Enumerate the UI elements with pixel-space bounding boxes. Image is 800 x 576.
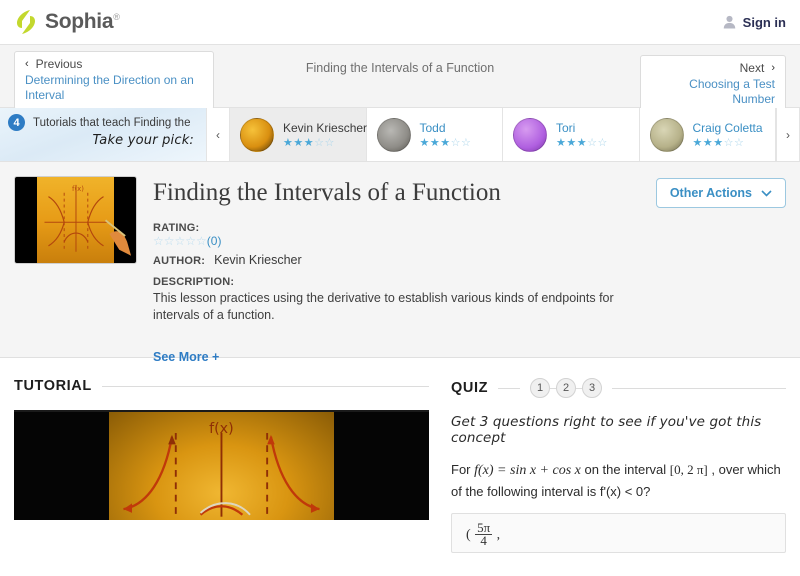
section-divider — [102, 386, 429, 387]
tutorials-carousel: 4 Tutorials that teach Finding the Take … — [0, 108, 800, 162]
lesson-details: Finding the Intervals of a Function RATI… — [153, 176, 640, 343]
answer-fraction: 5π 4 — [475, 522, 492, 547]
see-more-link[interactable]: See More + — [153, 350, 219, 364]
tutorial-card-tori[interactable]: Tori ★★★☆☆ — [503, 108, 640, 161]
author-name: Kevin Kriescher — [214, 253, 302, 267]
question-interval: [0, 2 π] — [670, 462, 708, 477]
carousel-cards: Kevin Kriescher ★★★☆☆ Todd ★★★☆☆ Tori ★★… — [230, 108, 776, 161]
carousel-intro-text: Tutorials that teach Finding the — [33, 117, 190, 129]
quiz-divider-right — [612, 388, 786, 389]
tutorial-card-rating: ★★★☆☆ — [283, 136, 356, 150]
brand-tm: ® — [113, 12, 119, 22]
sign-in-label: Sign in — [743, 15, 786, 30]
tutorial-card-rating: ★★★☆☆ — [556, 136, 608, 150]
brand-name: Sophia® — [45, 10, 120, 34]
next-label: Next — [740, 61, 765, 76]
quiz-step-2[interactable]: 2 — [556, 378, 576, 398]
avatar-kevin-kriescher — [240, 118, 274, 152]
carousel-next-button[interactable]: › — [776, 108, 800, 161]
tutorial-card-todd[interactable]: Todd ★★★☆☆ — [367, 108, 504, 161]
lower-content: TUTORIAL f(x) — [0, 358, 800, 553]
next-lesson-link[interactable]: Choosing a Test Number — [651, 77, 775, 107]
quiz-steps: 1 2 3 — [530, 378, 602, 398]
tutorial-card-rating: ★★★☆☆ — [420, 136, 472, 150]
carousel-intro: 4 Tutorials that teach Finding the Take … — [0, 108, 206, 161]
video-function-label: f(x) — [209, 421, 234, 437]
tutorial-card-name[interactable]: Todd — [420, 120, 472, 136]
rating-block: RATING: ☆☆☆☆☆ (0) — [153, 222, 640, 248]
chevron-left-icon: ‹ — [25, 59, 29, 70]
tutorial-card-name[interactable]: Tori — [556, 120, 608, 136]
question-function: f(x) = sin x + cos x — [474, 463, 581, 478]
person-icon — [723, 15, 736, 29]
sophia-logo-icon — [14, 9, 38, 35]
quiz-column: QUIZ 1 2 3 Get 3 questions right to see … — [451, 378, 786, 553]
quiz-step-3[interactable]: 3 — [582, 378, 602, 398]
next-lesson-card[interactable]: Next › Choosing a Test Number — [640, 55, 786, 114]
author-block: AUTHOR: Kevin Kriescher — [153, 253, 640, 267]
rating-count: (0) — [207, 234, 222, 248]
tutorial-heading: TUTORIAL — [14, 378, 92, 394]
quiz-section-header: QUIZ 1 2 3 — [451, 378, 786, 398]
quiz-question: For f(x) = sin x + cos x on the interval… — [451, 459, 786, 502]
previous-label: Previous — [36, 57, 83, 72]
thumbnail-graph-icon: f(x) — [15, 177, 136, 264]
question-pre: For — [451, 462, 474, 477]
carousel-hand-text: Take your pick: — [8, 133, 198, 148]
lesson-nav-bar: Finding the Intervals of a Function ‹ Pr… — [0, 44, 800, 108]
previous-lesson-link[interactable]: Determining the Direction on an Interval — [25, 73, 203, 103]
fraction-denominator: 4 — [475, 535, 492, 547]
tutorial-count-badge: 4 — [8, 114, 25, 131]
rating-stars[interactable]: ☆☆☆☆☆ — [153, 234, 207, 248]
answer-open-paren: ( — [466, 528, 471, 543]
tutorial-card-rating: ★★★☆☆ — [693, 136, 763, 150]
answer-comma: , — [497, 528, 501, 543]
description-block: DESCRIPTION: This lesson practices using… — [153, 276, 640, 324]
avatar-tori — [513, 118, 547, 152]
lesson-thumbnail[interactable]: f(x) — [14, 176, 137, 264]
sign-in-button[interactable]: Sign in — [723, 15, 786, 30]
tutorial-card-name: Kevin Kriescher — [283, 120, 356, 136]
avatar-todd — [377, 118, 411, 152]
question-mid: on the interval — [581, 462, 670, 477]
page-title: Finding the Intervals of a Function — [153, 178, 640, 208]
svg-text:f(x): f(x) — [72, 185, 84, 193]
avatar-craig-coletta — [650, 118, 684, 152]
tutorial-card-name[interactable]: Craig Coletta — [693, 120, 763, 136]
tutorial-column: TUTORIAL f(x) — [14, 378, 429, 553]
chevron-down-icon — [761, 186, 772, 200]
quiz-divider-left — [498, 388, 520, 389]
previous-kicker: ‹ Previous — [25, 57, 203, 72]
top-bar: Sophia® Sign in — [0, 0, 800, 44]
rating-label: RATING: — [153, 222, 640, 234]
video-graph-icon: f(x) — [14, 412, 429, 517]
quiz-answer-option[interactable]: ( 5π 4 , — [451, 513, 786, 553]
chevron-right-icon: › — [771, 63, 775, 74]
other-actions-button[interactable]: Other Actions — [656, 178, 786, 208]
tutorial-section-header: TUTORIAL — [14, 378, 429, 394]
brand-logo[interactable]: Sophia® — [14, 9, 120, 35]
lesson-info-panel: f(x) Finding the Intervals of a Function… — [0, 162, 800, 358]
author-label: AUTHOR: — [153, 255, 205, 267]
next-kicker: Next › — [651, 61, 775, 76]
other-actions-label: Other Actions — [670, 186, 752, 200]
tutorial-video-player[interactable]: f(x) — [14, 410, 429, 520]
quiz-hand-text: Get 3 questions right to see if you've g… — [451, 414, 786, 446]
quiz-step-1[interactable]: 1 — [530, 378, 550, 398]
tutorial-card-kevin-kriescher[interactable]: Kevin Kriescher ★★★☆☆ — [230, 108, 367, 161]
tutorial-card-craig-coletta[interactable]: Craig Coletta ★★★☆☆ — [640, 108, 777, 161]
description-text: This lesson practices using the derivati… — [153, 290, 640, 324]
description-label: DESCRIPTION: — [153, 276, 640, 288]
previous-lesson-card[interactable]: ‹ Previous Determining the Direction on … — [14, 51, 214, 110]
carousel-prev-button[interactable]: ‹ — [206, 108, 230, 161]
quiz-heading: QUIZ — [451, 380, 488, 396]
